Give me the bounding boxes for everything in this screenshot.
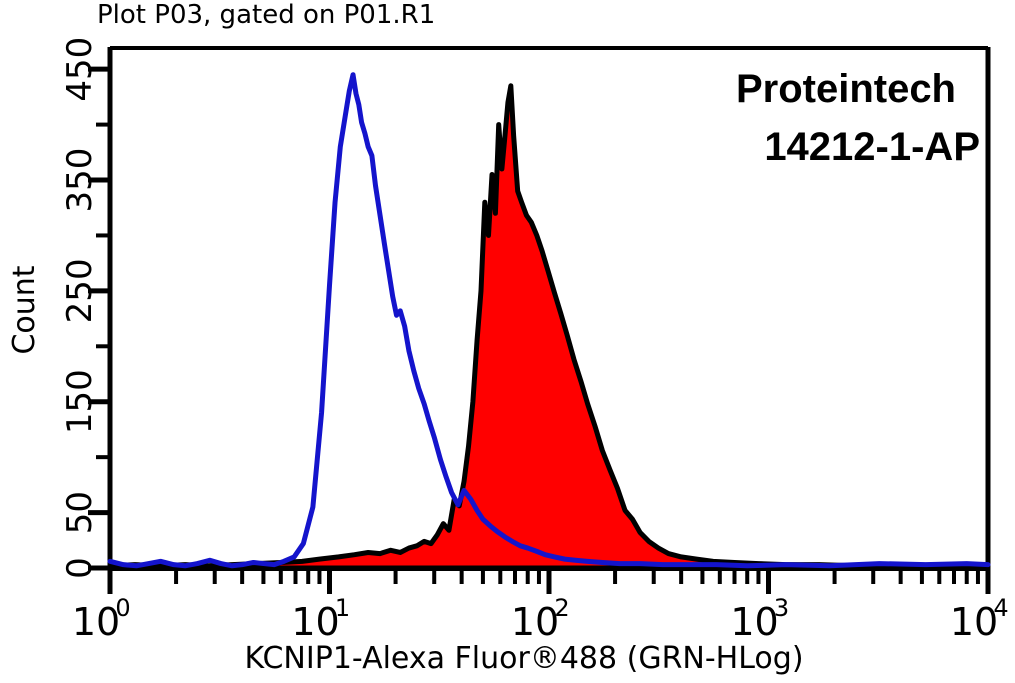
- svg-text:10: 10: [730, 600, 778, 644]
- svg-text:10: 10: [291, 600, 339, 644]
- svg-text:2: 2: [554, 594, 569, 622]
- y-tick-label: 50: [60, 491, 100, 534]
- svg-text:10: 10: [950, 600, 998, 644]
- histogram-chart: 050150250350450 100101102103104 Count KC…: [0, 0, 1015, 683]
- y-axis-tick-labels: 050150250350450: [60, 37, 100, 579]
- x-axis-title: KCNIP1-Alexa Fluor®488 (GRN-HLog): [244, 641, 803, 676]
- svg-text:3: 3: [774, 594, 789, 622]
- y-tick-label: 450: [60, 37, 100, 102]
- x-tick-label: 104: [950, 594, 1009, 644]
- x-tick-label: 103: [730, 594, 789, 644]
- y-tick-label: 250: [60, 258, 100, 323]
- x-tick-label: 102: [511, 594, 570, 644]
- y-tick-label: 0: [60, 557, 100, 579]
- x-axis-ticks: [110, 568, 988, 594]
- svg-text:4: 4: [993, 594, 1008, 622]
- y-axis-title: Count: [7, 265, 42, 354]
- svg-text:10: 10: [511, 600, 559, 644]
- watermark-catalog-number: 14212-1-AP: [764, 125, 980, 169]
- svg-text:0: 0: [115, 594, 130, 622]
- watermark-brand: Proteintech: [736, 67, 956, 111]
- y-tick-label: 350: [60, 148, 100, 213]
- x-tick-label: 101: [291, 594, 350, 644]
- flow-cytometry-figure: Plot P03, gated on P01.R1 05015025035045…: [0, 0, 1015, 683]
- x-tick-label: 100: [72, 594, 131, 644]
- svg-text:10: 10: [72, 600, 120, 644]
- watermark: Proteintech 14212-1-AP: [736, 67, 980, 169]
- svg-text:1: 1: [335, 594, 350, 622]
- y-tick-label: 150: [60, 369, 100, 434]
- x-axis-tick-labels: 100101102103104: [72, 594, 1009, 644]
